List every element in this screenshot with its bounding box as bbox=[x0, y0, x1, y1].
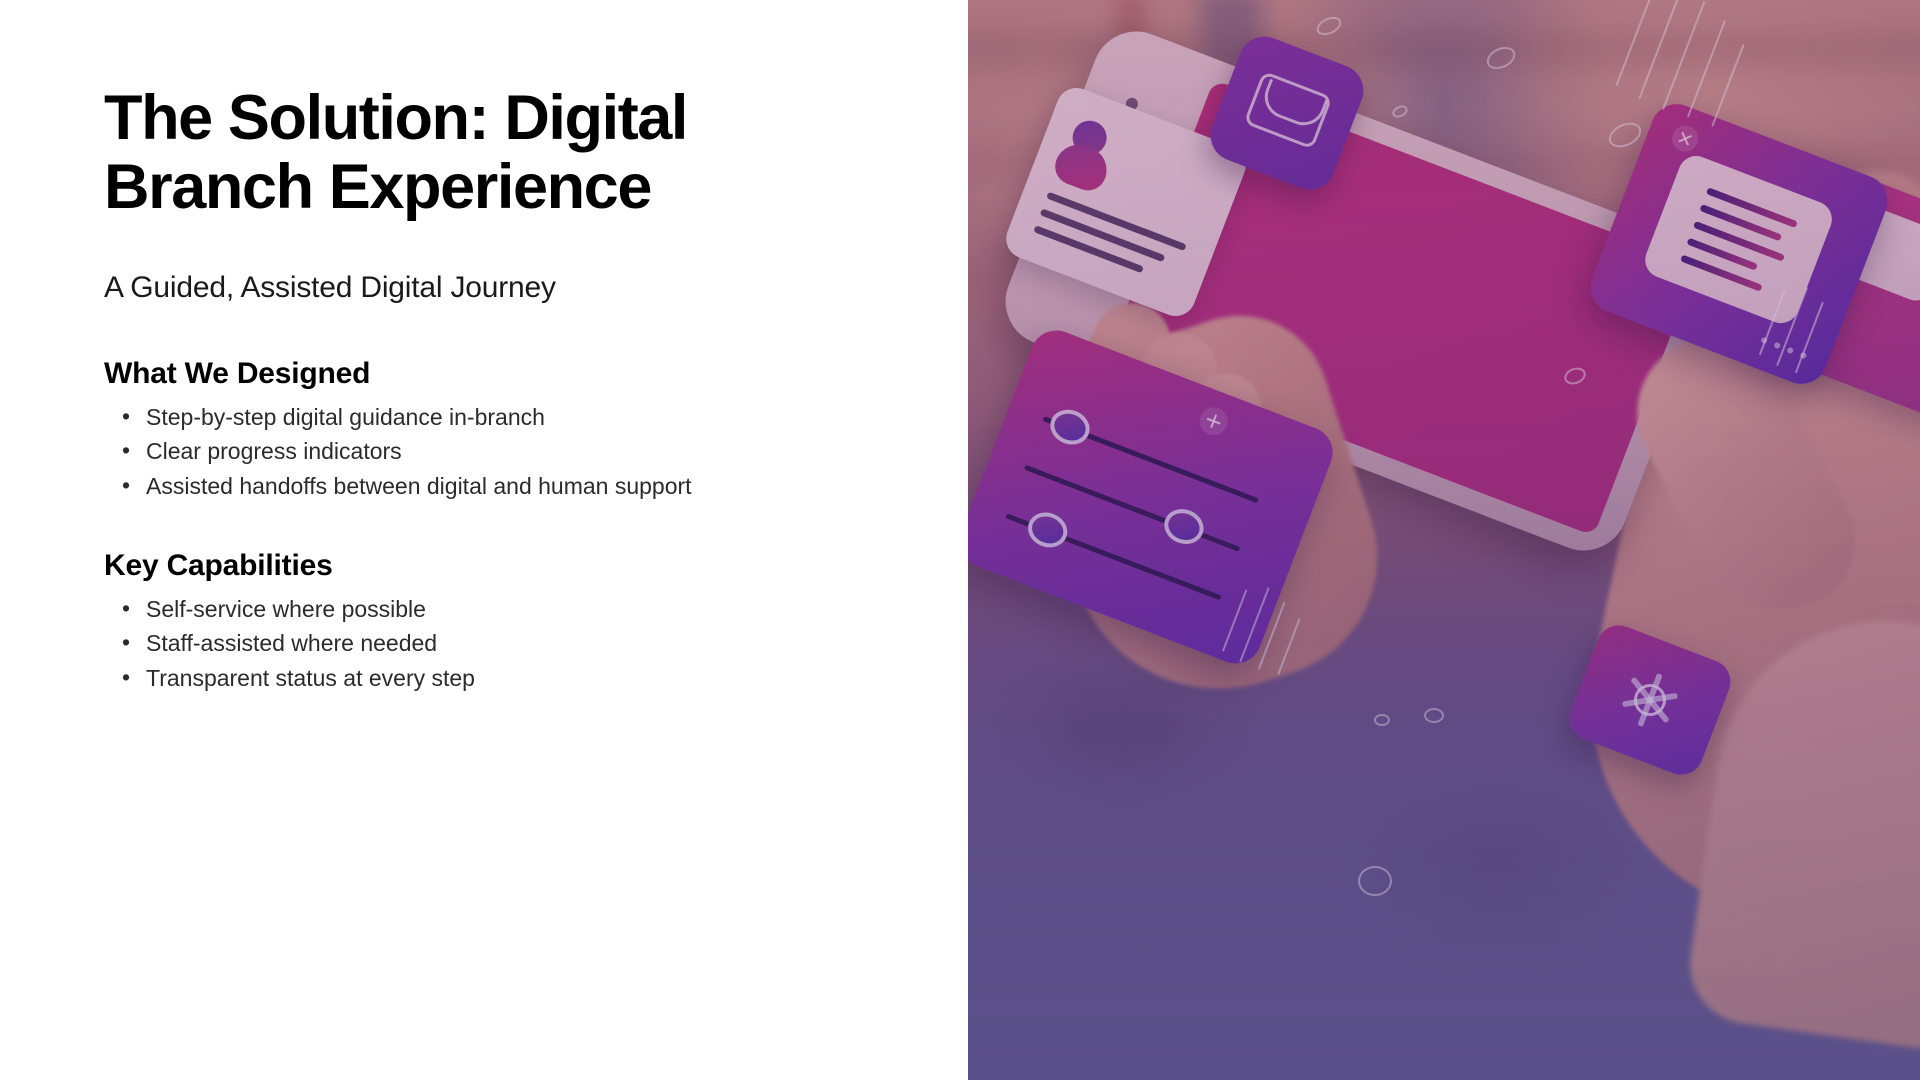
content-panel: The Solution: Digital Branch Experience … bbox=[0, 0, 968, 1080]
section-heading: What We Designed bbox=[104, 357, 968, 391]
bullet-list: Step-by-step digital guidance in-branch … bbox=[104, 401, 968, 503]
slide-image bbox=[968, 0, 1920, 1080]
list-item: Clear progress indicators bbox=[104, 435, 744, 468]
section-heading: Key Capabilities bbox=[104, 549, 968, 583]
section-what-we-designed: What We Designed Step-by-step digital gu… bbox=[104, 357, 968, 503]
bullet-list: Self-service where possible Staff-assist… bbox=[104, 593, 968, 695]
section-key-capabilities: Key Capabilities Self-service where poss… bbox=[104, 549, 968, 695]
slide-root: The Solution: Digital Branch Experience … bbox=[0, 0, 1920, 1080]
page-title: The Solution: Digital Branch Experience bbox=[104, 84, 824, 223]
list-item: Step-by-step digital guidance in-branch bbox=[104, 401, 744, 434]
list-item: Assisted handoffs between digital and hu… bbox=[104, 470, 744, 503]
list-item: Staff-assisted where needed bbox=[104, 627, 744, 660]
list-item: Transparent status at every step bbox=[104, 662, 744, 695]
slide-subtitle: A Guided, Assisted Digital Journey bbox=[104, 271, 968, 305]
list-item: Self-service where possible bbox=[104, 593, 744, 626]
duotone-overlay-light bbox=[968, 0, 1920, 1080]
